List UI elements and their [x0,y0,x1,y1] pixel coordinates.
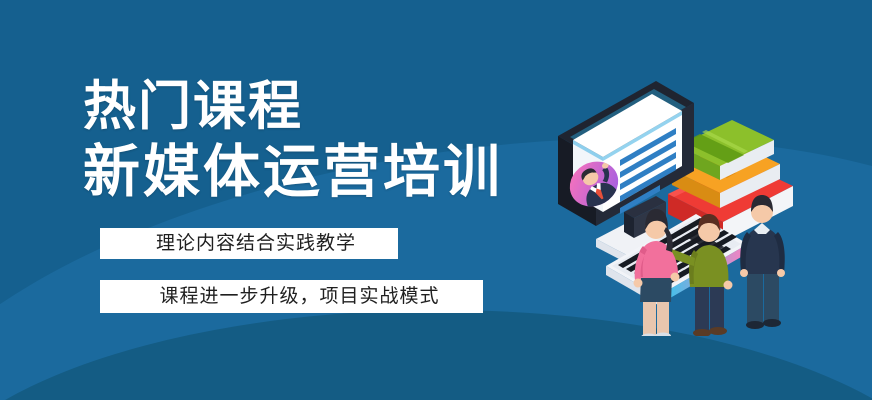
headline-line-1: 热门课程 [83,80,553,133]
headline-block: 热门课程 新媒体运营培训 [83,80,553,201]
woman-skirt [640,276,672,302]
headline-line-2: 新媒体运营培训 [83,144,553,201]
tagline-box-1: 理论内容结合实践教学 [100,228,398,259]
illustration [548,66,828,336]
tagline-box-2: 课程进一步升级，项目实战模式 [100,280,483,313]
promo-banner: 热门课程 新媒体运营培训 理论内容结合实践教学 课程进一步升级，项目实战模式 [0,0,872,400]
